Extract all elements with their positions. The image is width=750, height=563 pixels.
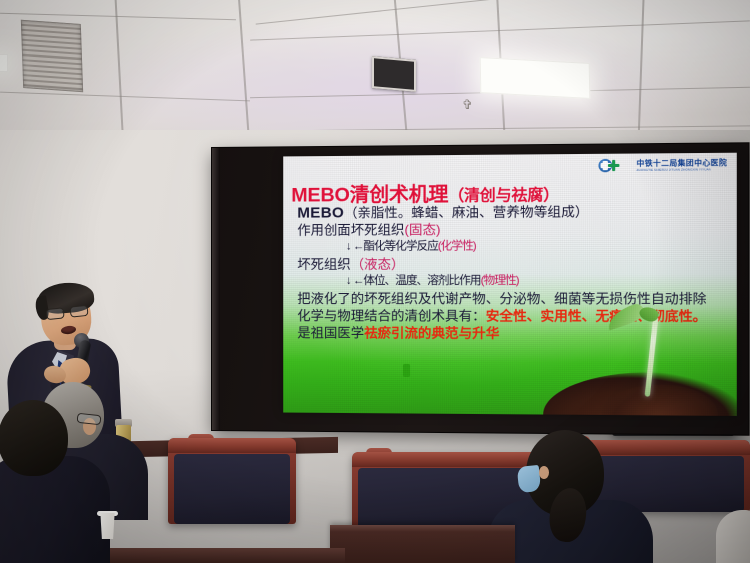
slide-title-paren: （清创与祛腐） bbox=[448, 187, 559, 205]
presentation-photo-scene: ✞ 中铁十二局集团中心医院 ZHONGTIE SHIERJU JITUAN ZH… bbox=[0, 0, 750, 563]
hospital-logo: 中铁十二局集团中心医院 ZHONGTIE SHIERJU JITUAN ZHON… bbox=[599, 158, 727, 173]
mebo-desc: （亲脂性。蜂蜡、麻油、营养物等组成） bbox=[344, 204, 589, 220]
line8-text: 是祖国医学 bbox=[297, 325, 364, 340]
line8-highlight: 祛瘀引流的典范与升华 bbox=[364, 325, 499, 341]
logo-name-en: ZHONGTIE SHIERJU JITUAN ZHONGXIN YIYUAN bbox=[637, 168, 728, 171]
projected-slide: 中铁十二局集团中心医院 ZHONGTIE SHIERJU JITUAN ZHON… bbox=[283, 153, 737, 416]
projection-screen-frame: 中铁十二局集团中心医院 ZHONGTIE SHIERJU JITUAN ZHON… bbox=[212, 143, 748, 434]
slide-line-3: ↓ ←酯化等化学反应(化学性) bbox=[297, 237, 722, 255]
audience-ear bbox=[539, 466, 549, 479]
lecture-desk-front-right bbox=[330, 525, 515, 563]
audience-member-right-edge bbox=[716, 510, 750, 563]
line7-highlight: 安全性、实用性、无痛性、彻底性。 bbox=[486, 308, 707, 324]
line7-text: 化学与物理结合的清创术具有： bbox=[297, 308, 485, 323]
air-vent-icon bbox=[21, 20, 83, 92]
slide-line-8: 是祖国医学祛瘀引流的典范与升华 bbox=[297, 324, 722, 342]
line4-tag: （液态） bbox=[351, 257, 405, 272]
screen-frame-edge bbox=[212, 148, 220, 430]
auditorium-bench-left bbox=[168, 438, 296, 524]
slide-body: MEBO（亲脂性。蜂蜡、麻油、营养物等组成） 作用创面坏死组织(固态) ↓ ←酯… bbox=[297, 202, 722, 342]
recessed-light-panel bbox=[480, 57, 591, 99]
slide-line-5: ↓ ←体位、温度、溶剂比作用(物理性) bbox=[297, 272, 722, 290]
line3-arrow-text: ↓ ←酯化等化学反应 bbox=[346, 240, 438, 252]
lecture-desk-front-left bbox=[95, 548, 345, 563]
slide-line-6: 把液化了的坏死组织及代谢产物、分泌物、细菌等无损伤性自动排除 bbox=[297, 290, 722, 308]
audience-body-right bbox=[716, 510, 750, 563]
line5-tag: (物理性) bbox=[481, 275, 519, 287]
audience-head-darkcoat bbox=[0, 400, 68, 476]
slide-green-marker bbox=[403, 364, 410, 377]
slide-line-1: MEBO（亲脂性。蜂蜡、麻油、营养物等组成） bbox=[297, 202, 722, 221]
recessed-light-panel-left bbox=[0, 54, 8, 72]
line4-text: 坏死组织 bbox=[297, 257, 350, 272]
line2-tag: (固态) bbox=[404, 222, 440, 237]
ceiling-vent-dark-icon bbox=[372, 56, 416, 92]
mebo-label: MEBO bbox=[297, 204, 344, 221]
medical-cross-icon bbox=[608, 160, 620, 171]
line3-tag: (化学性) bbox=[438, 240, 476, 252]
audience-member-dark-coat bbox=[0, 400, 112, 563]
line2-text: 作用创面坏死组织 bbox=[297, 222, 404, 238]
slide-line-2: 作用创面坏死组织(固态) bbox=[297, 220, 722, 239]
ceiling-sprinkler-icon: ✞ bbox=[462, 98, 473, 111]
line5-arrow-text: ↓ ←体位、温度、溶剂比作用 bbox=[346, 275, 481, 287]
logo-name-cn: 中铁十二局集团中心医院 bbox=[637, 159, 728, 167]
slide-line-4: 坏死组织（液态） bbox=[297, 255, 722, 273]
